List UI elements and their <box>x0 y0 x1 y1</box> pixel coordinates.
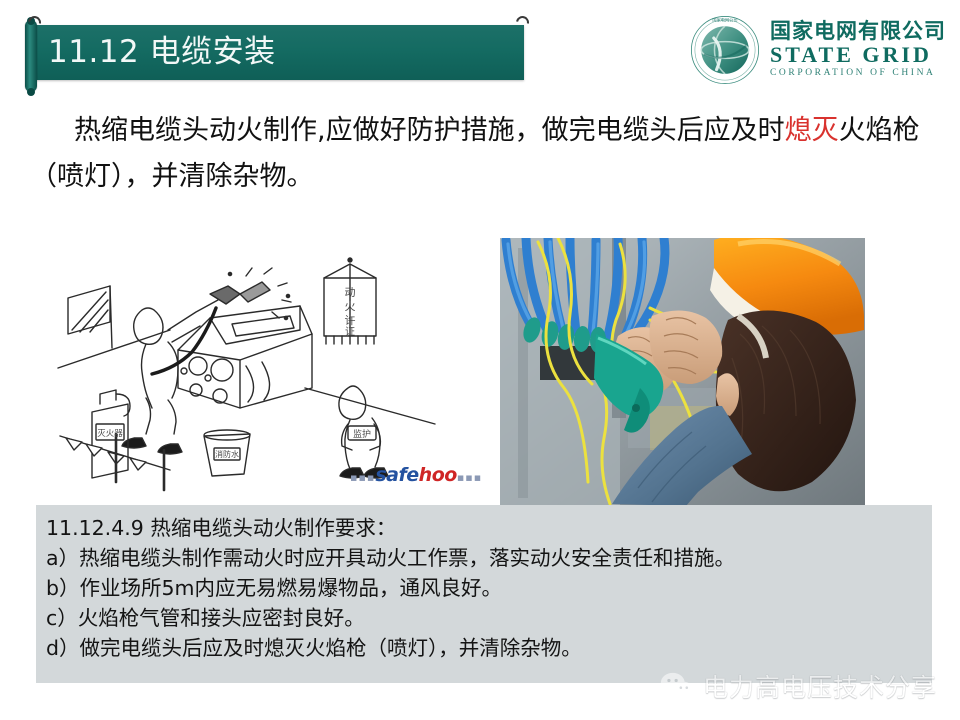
safety-cartoon-illustration: 动 火 许 证 灭火器 消防水 监护 ▪▪▪safehoo▪▪▪ <box>50 238 450 500</box>
cartoon-extinguisher-label: 灭火器 <box>97 429 123 439</box>
safehoo-prefix: safe <box>375 464 418 486</box>
safehoo-dots-right: ▪▪▪ <box>457 471 482 484</box>
svg-text:国家电网公司: 国家电网公司 <box>712 16 737 23</box>
note-item-a: a）热缩电缆头制作需动火时应开具动火工作票，落实动火安全责任和措施。 <box>46 544 932 574</box>
safety-cartoon-svg: 动 火 许 证 灭火器 消防水 监护 <box>50 238 450 500</box>
banner-rod-cap-bottom-icon <box>27 88 35 96</box>
note-heading: 11.12.4.9 热缩电缆头动火制作要求： <box>46 514 932 544</box>
cartoon-banner-label-char3: 许 <box>345 314 356 327</box>
wechat-icon <box>660 671 694 701</box>
slide-title-banner: 11.12 电缆安装 <box>36 25 524 80</box>
banner-scroll-rod-decoration <box>25 20 37 92</box>
safehoo-suffix: hoo <box>419 464 457 486</box>
brand-name-en: STATE GRID <box>770 44 946 66</box>
safehoo-watermark: ▪▪▪safehoo▪▪▪ <box>350 466 482 485</box>
wechat-watermark: 电力高电压技术分享 <box>660 668 937 704</box>
lead-paragraph: 热缩电缆头动火制作,应做好防护措施，做完电缆头后应及时熄灭火焰枪（喷灯），并清除… <box>30 108 935 201</box>
cartoon-supervisor-label: 监护 <box>353 428 371 440</box>
state-grid-globe-icon: 国家电网公司 <box>690 15 760 85</box>
note-item-b: b）作业场所5m内应无易燃易爆物品，通风良好。 <box>46 574 932 604</box>
brand-logo: 国家电网公司 国家电网有限公司 STATE GRID CORPORATION O… <box>690 14 946 86</box>
wechat-watermark-label: 电力高电压技术分享 <box>703 668 937 704</box>
brand-wordmark: 国家电网有限公司 STATE GRID CORPORATION OF CHINA <box>770 21 946 79</box>
cartoon-banner-label-char1: 动 <box>345 286 356 299</box>
requirements-note-box: 11.12.4.9 热缩电缆头动火制作要求： a）热缩电缆头制作需动火时应开具动… <box>36 505 932 683</box>
lead-text-highlight: 熄灭 <box>785 115 839 146</box>
requirements-note-content: 11.12.4.9 热缩电缆头动火制作要求： a）热缩电缆头制作需动火时应开具动… <box>36 505 932 664</box>
brand-name-cn: 国家电网有限公司 <box>770 21 946 42</box>
cable-work-photo-svg <box>500 238 865 506</box>
cartoon-banner-label-char2: 火 <box>345 300 356 313</box>
safehoo-dots-left: ▪▪▪ <box>350 471 375 484</box>
brand-name-sub: CORPORATION OF CHINA <box>770 69 946 79</box>
cable-work-photo <box>500 238 865 506</box>
lead-text-part1: 热缩电缆头动火制作,应做好防护措施，做完电缆头后应及时 <box>74 115 785 146</box>
note-item-d: d）做完电缆头后应及时熄灭火焰枪（喷灯），并清除杂物。 <box>46 634 932 664</box>
page-title: 11.12 电缆安装 <box>48 36 276 67</box>
note-item-c: c）火焰枪气管和接头应密封良好。 <box>46 604 932 634</box>
cartoon-banner-label-char4: 证 <box>345 326 355 338</box>
cartoon-water-label: 消防水 <box>215 449 239 459</box>
